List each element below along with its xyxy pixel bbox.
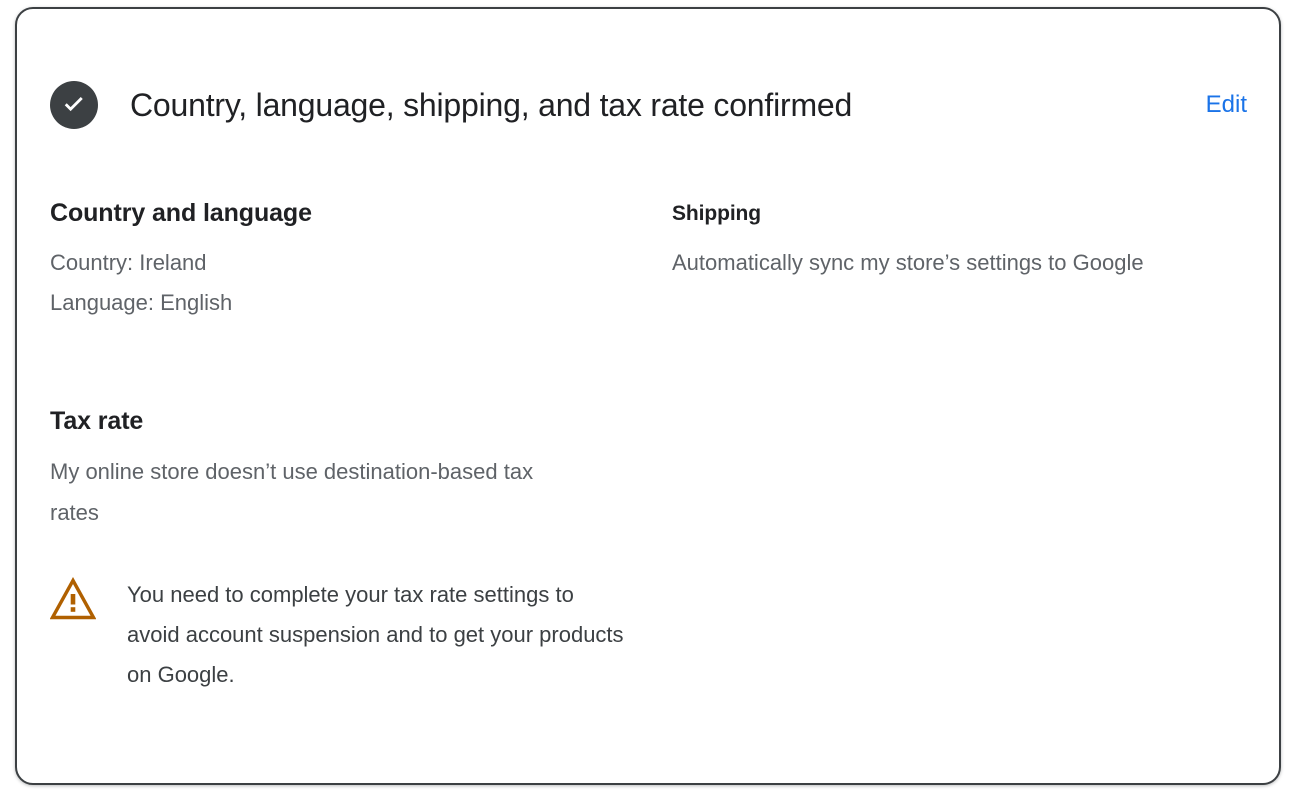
check-circle-icon — [50, 81, 98, 129]
tax-rate-warning: You need to complete your tax rate setti… — [50, 575, 670, 695]
shipping-section: Shipping Automatically sync my store’s s… — [672, 197, 1232, 283]
country-language-section: Country and language Country: Ireland La… — [50, 197, 672, 323]
language-value: Language: English — [50, 283, 672, 323]
card-header: Country, language, shipping, and tax rat… — [17, 9, 1279, 179]
warning-message: You need to complete your tax rate setti… — [127, 575, 627, 695]
tax-rate-heading: Tax rate — [50, 405, 670, 437]
country-value: Country: Ireland — [50, 243, 672, 283]
tax-rate-section: Tax rate My online store doesn’t use des… — [50, 405, 670, 695]
edit-button[interactable]: Edit — [1190, 90, 1247, 120]
shipping-heading: Shipping — [672, 200, 1232, 228]
confirmation-card: Country, language, shipping, and tax rat… — [15, 7, 1281, 785]
summary-columns: Country and language Country: Ireland La… — [50, 197, 1279, 323]
warning-triangle-icon — [50, 577, 96, 621]
page-title: Country, language, shipping, and tax rat… — [130, 85, 1190, 125]
tax-rate-value: My online store doesn’t use destination-… — [50, 451, 570, 533]
country-language-heading: Country and language — [50, 197, 672, 229]
shipping-value: Automatically sync my store’s settings t… — [672, 242, 1202, 283]
